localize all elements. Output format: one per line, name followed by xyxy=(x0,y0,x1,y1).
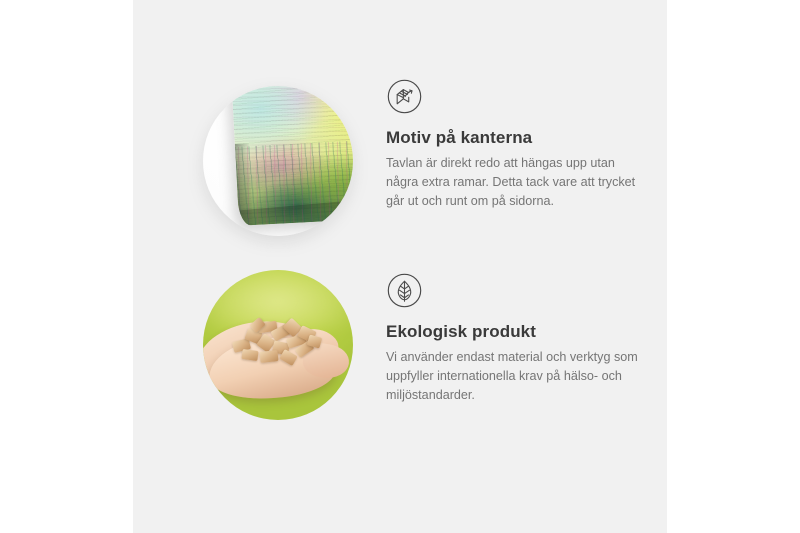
canvas-wrap-edge-icon xyxy=(386,78,423,115)
hands-holding-wood-chips-photo xyxy=(190,262,360,432)
content-panel: Motiv på kanterna Tavlan är direkt redo … xyxy=(133,0,667,533)
photo-circle-mask xyxy=(203,270,353,420)
canvas-print-corner-photo xyxy=(190,78,360,248)
photo-circle-mask xyxy=(203,86,353,236)
product-feature-banner: Motiv på kanterna Tavlan är direkt redo … xyxy=(0,0,800,533)
feature-title: Motiv på kanterna xyxy=(386,128,656,148)
wood-chip-pile xyxy=(229,318,321,370)
canvas-print-block xyxy=(231,86,353,226)
feature-description: Vi använder endast material och verktyg … xyxy=(386,348,648,404)
feature-block-edges: Motiv på kanterna Tavlan är direkt redo … xyxy=(133,78,667,258)
feature-text-eco: Ekologisk produkt Vi använder endast mat… xyxy=(386,262,656,404)
leaf-icon xyxy=(386,272,423,309)
feature-block-eco: Ekologisk produkt Vi använder endast mat… xyxy=(133,262,667,442)
feature-description: Tavlan är direkt redo att hängas upp uta… xyxy=(386,154,648,210)
feature-text-edges: Motiv på kanterna Tavlan är direkt redo … xyxy=(386,78,656,210)
feature-title: Ekologisk produkt xyxy=(386,322,656,342)
